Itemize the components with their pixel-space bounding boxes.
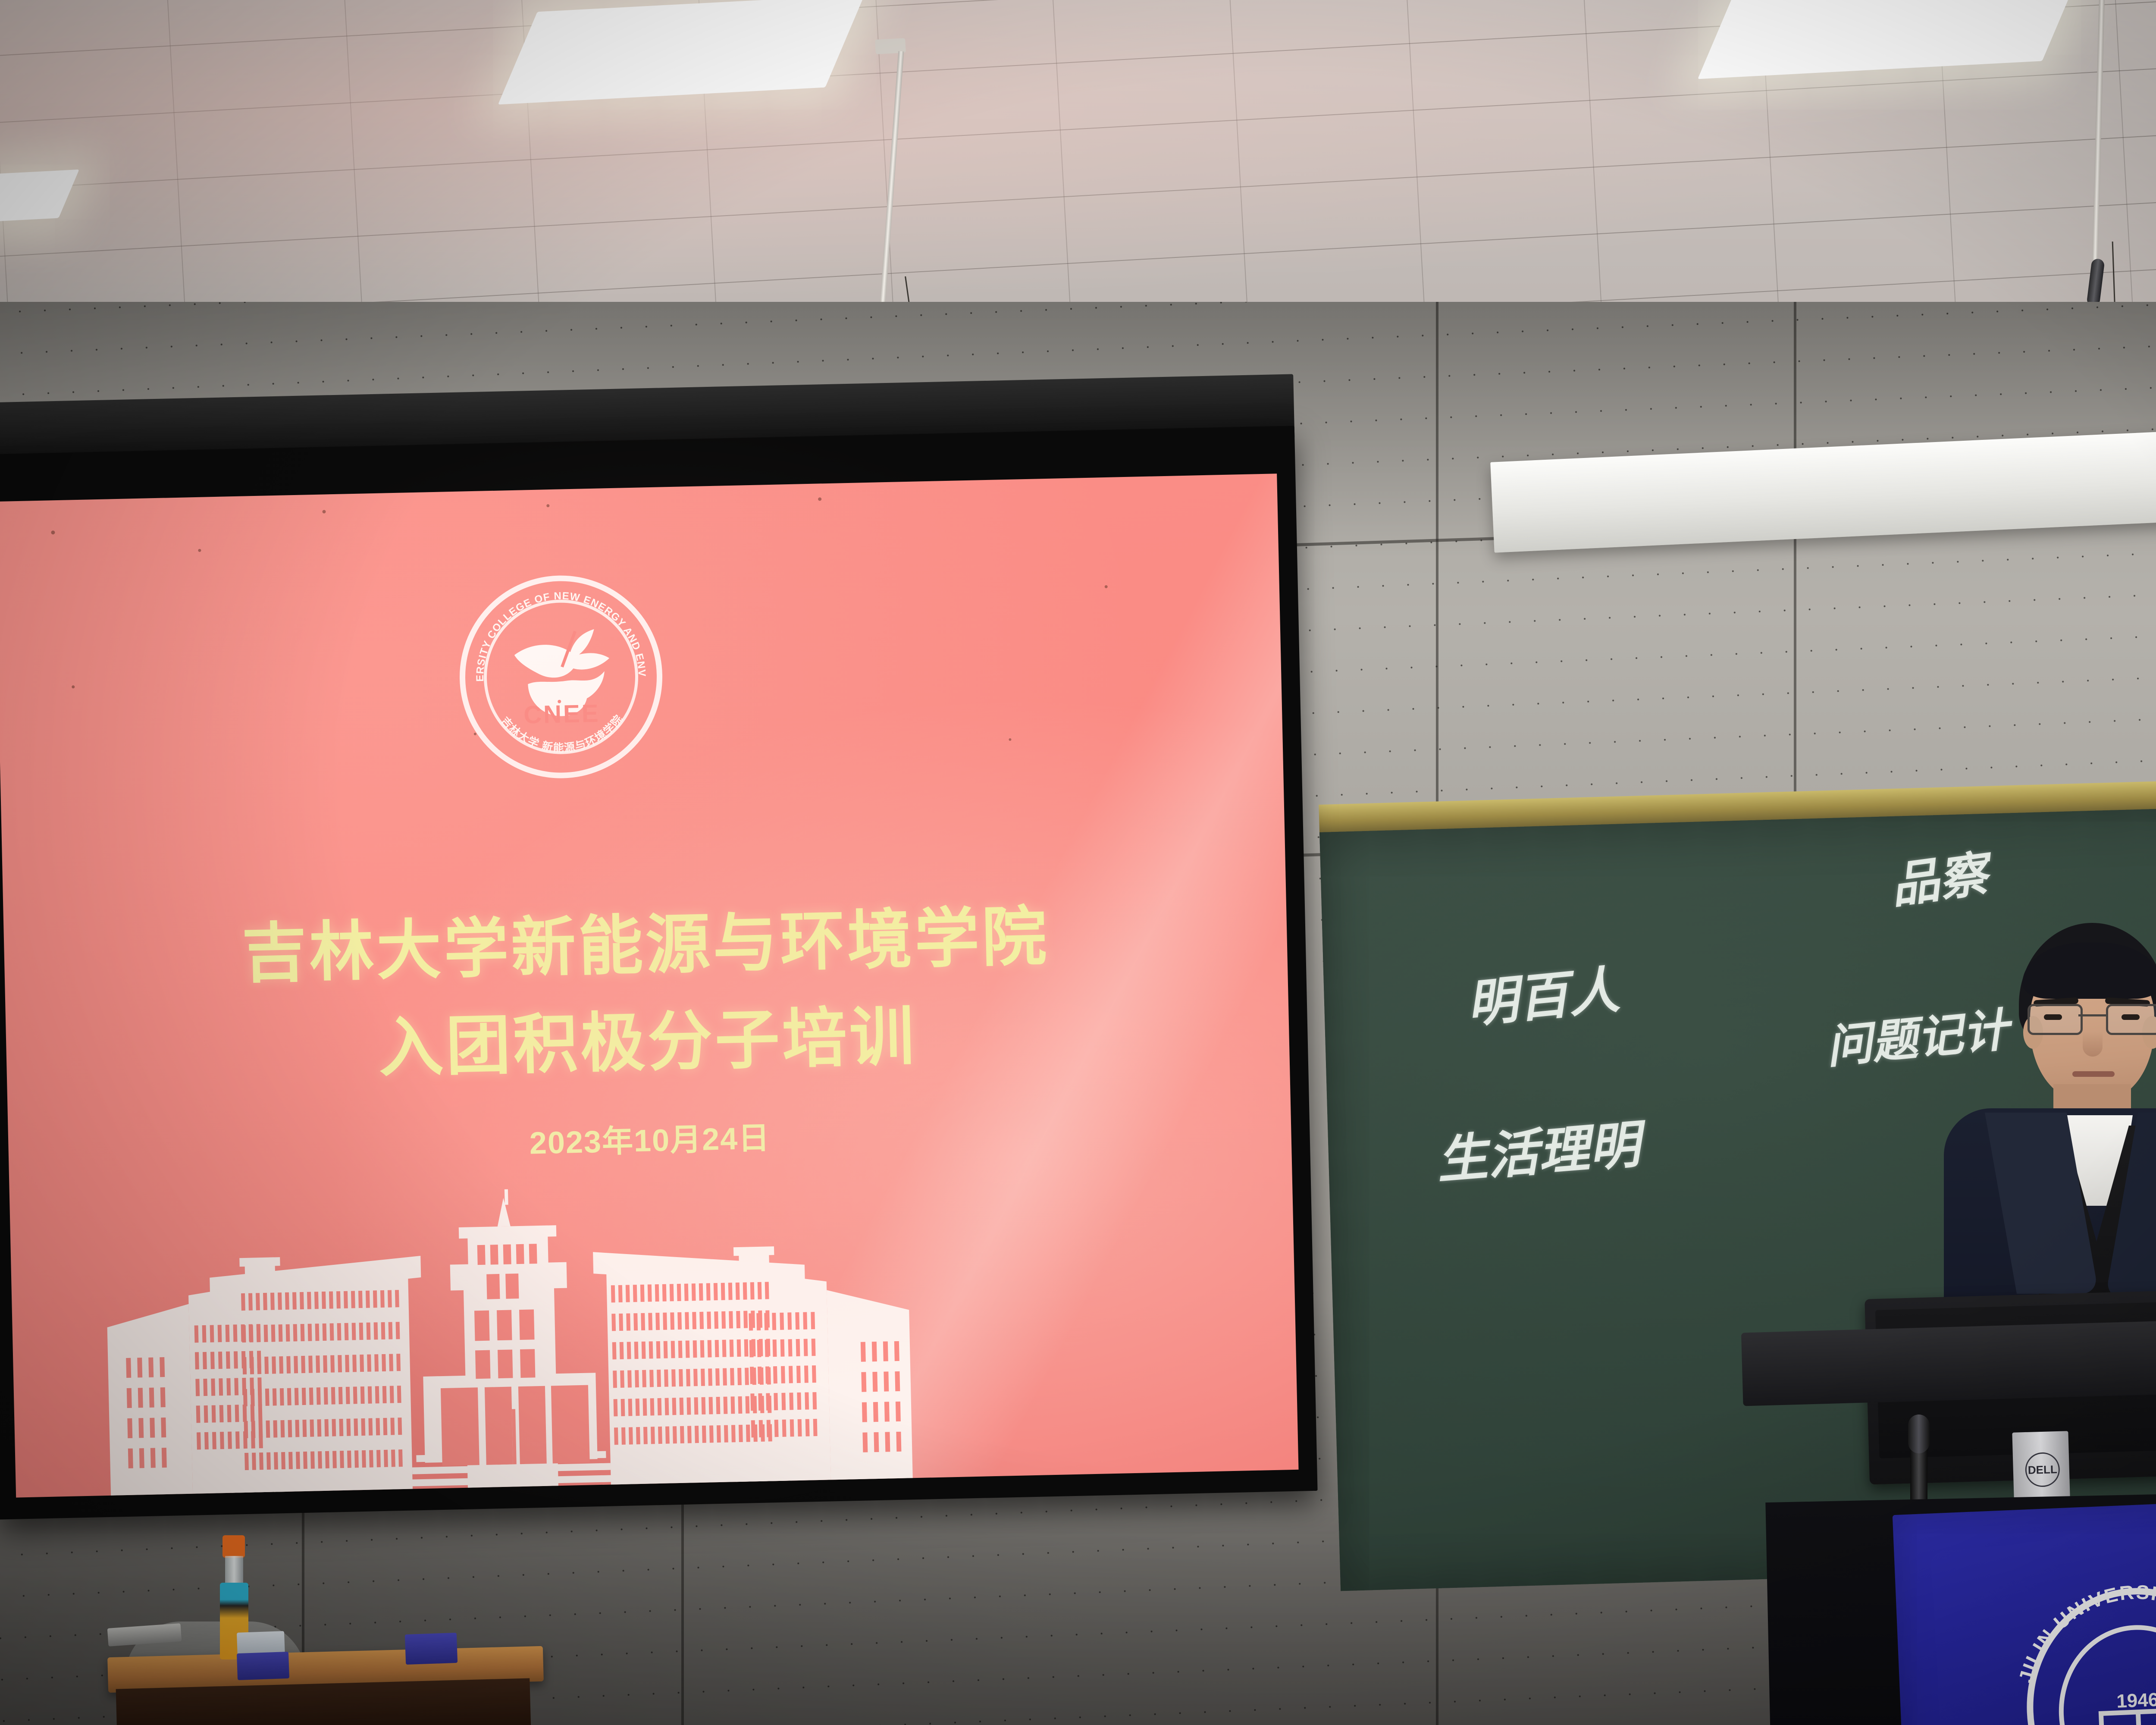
projection-screen: JILIN UNIVERSITY COLLEGE OF NEW ENERGY A… — [0, 425, 1336, 1558]
jilin-university-seal: JILIN UNIVERSITY · CHINA 1946 — [1999, 1564, 2156, 1725]
blue-chalk-box — [237, 1652, 289, 1680]
blue-chalk-box — [405, 1633, 458, 1665]
svg-text:1946: 1946 — [2116, 1689, 2156, 1712]
geology-palace-illustration — [78, 1180, 939, 1498]
lectern-microphone-head — [1908, 1414, 1930, 1453]
eye — [2044, 1014, 2062, 1020]
lectern-front-panel: JILIN UNIVERSITY · CHINA 1946 — [1893, 1495, 2156, 1725]
chalkboard-note: 明百人 — [1463, 948, 1622, 1037]
side-table — [108, 1626, 582, 1725]
eye — [2122, 1014, 2140, 1020]
nose — [2083, 1032, 2103, 1057]
dell-logo-icon: DELL — [2025, 1452, 2060, 1487]
bottle-neck — [225, 1556, 243, 1584]
chalkboard-note: 生活理明 — [1434, 1103, 1642, 1192]
cnee-emblem: JILIN UNIVERSITY COLLEGE OF NEW ENERGY A… — [458, 574, 664, 781]
bottle-cap — [222, 1535, 245, 1558]
lecture-hall-photo: 20 37 2023年10月24日 星期2 明百人生活理明品察问题记计同管 → … — [0, 0, 2156, 1725]
svg-text:JILIN UNIVERSITY · CHINA: JILIN UNIVERSITY · CHINA — [2010, 1576, 2156, 1686]
emblem-acronym: CNEE — [460, 697, 663, 731]
lectern: DELL JILIN UNIVERSITY · CHINA 1946 — [1742, 1324, 2156, 1725]
lectern-top-surface — [1741, 1315, 2156, 1406]
presentation-slide: JILIN UNIVERSITY COLLEGE OF NEW ENERGY A… — [0, 474, 1299, 1497]
mouth — [2072, 1071, 2115, 1077]
chalkboard-note: 品察 — [1886, 835, 1991, 917]
